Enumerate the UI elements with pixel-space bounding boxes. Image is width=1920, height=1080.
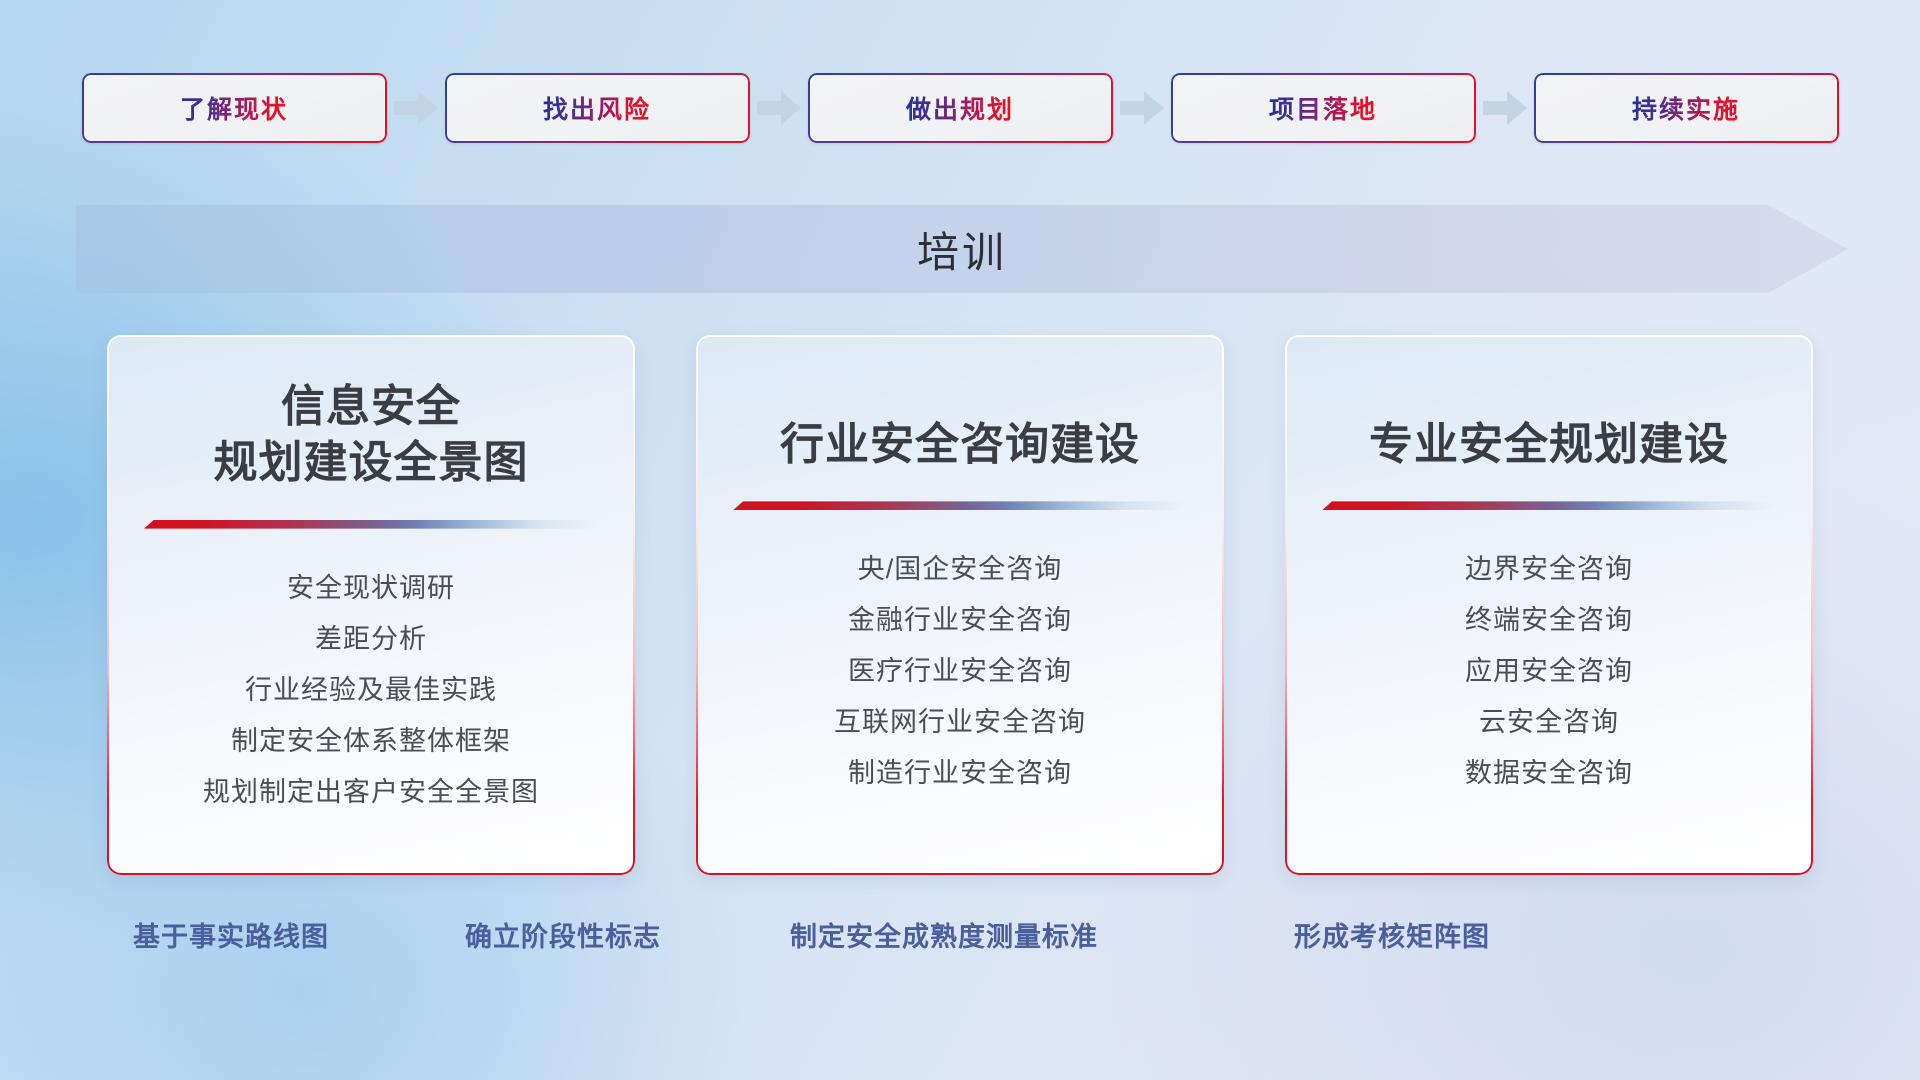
card-divider	[144, 520, 598, 529]
card-list: 安全现状调研 差距分析 行业经验及最佳实践 制定安全体系整体框架 规划制定出客户…	[203, 563, 539, 817]
list-item: 安全现状调研	[287, 563, 455, 613]
arrow-right-icon	[750, 70, 808, 146]
step-box-3[interactable]: 项目落地	[1171, 73, 1476, 143]
captions-row: 基于事实路线图 确立阶段性标志 制定安全成熟度测量标准 形成考核矩阵图	[0, 915, 1920, 965]
card-professional-security-planning[interactable]: 专业安全规划建设 边界安全咨询 终端安全咨询 应用安全咨询 云安全咨询 数据安全…	[1285, 335, 1813, 875]
step-box-0[interactable]: 了解现状	[82, 73, 387, 143]
card-title: 信息安全 规划建设全景图	[214, 379, 529, 492]
card-title-line: 专业安全规划建设	[1369, 417, 1729, 473]
list-item: 行业经验及最佳实践	[245, 665, 497, 715]
list-item: 互联网行业安全咨询	[834, 697, 1086, 747]
step-label: 做出规划	[906, 90, 1014, 126]
card-list: 边界安全咨询 终端安全咨询 应用安全咨询 云安全咨询 数据安全咨询	[1465, 544, 1633, 798]
list-item: 央/国企安全咨询	[858, 544, 1063, 594]
arrow-right-icon	[387, 70, 445, 146]
card-title: 行业安全咨询建设	[780, 417, 1140, 473]
list-item: 医疗行业安全咨询	[848, 646, 1072, 696]
caption-milestones: 确立阶段性标志	[465, 915, 661, 954]
caption-assessment-matrix: 形成考核矩阵图	[1294, 915, 1490, 954]
card-title-line: 行业安全咨询建设	[780, 417, 1140, 473]
list-item: 边界安全咨询	[1465, 544, 1633, 594]
list-item: 应用安全咨询	[1465, 646, 1633, 696]
list-item: 金融行业安全咨询	[848, 595, 1072, 645]
card-industry-security-consulting[interactable]: 行业安全咨询建设 央/国企安全咨询 金融行业安全咨询 医疗行业安全咨询 互联网行…	[696, 335, 1224, 875]
arrow-right-icon	[1113, 70, 1171, 146]
card-title-line: 规划建设全景图	[214, 435, 529, 491]
cards-row: 信息安全 规划建设全景图 安全现状调研 差距分析 行业经验及最佳实践 制定安全体…	[0, 335, 1920, 875]
step-label: 找出风险	[543, 90, 651, 126]
step-box-4[interactable]: 持续实施	[1534, 73, 1839, 143]
caption-roadmap: 基于事实路线图	[133, 915, 329, 954]
list-item: 数据安全咨询	[1465, 748, 1633, 798]
card-information-security[interactable]: 信息安全 规划建设全景图 安全现状调研 差距分析 行业经验及最佳实践 制定安全体…	[107, 335, 635, 875]
list-item: 差距分析	[315, 614, 427, 664]
card-title-line: 信息安全	[214, 379, 529, 435]
training-banner: 培训	[76, 205, 1848, 293]
step-box-1[interactable]: 找出风险	[445, 73, 750, 143]
caption-maturity-standard: 制定安全成熟度测量标准	[790, 915, 1098, 954]
arrow-right-icon	[1476, 70, 1534, 146]
step-label: 持续实施	[1632, 90, 1740, 126]
step-box-2[interactable]: 做出规划	[808, 73, 1113, 143]
process-steps-row: 了解现状 找出风险 做出规划 项目落地 持续实施	[0, 70, 1920, 146]
card-title: 专业安全规划建设	[1369, 417, 1729, 473]
list-item: 终端安全咨询	[1465, 595, 1633, 645]
card-divider	[1322, 501, 1776, 510]
list-item: 云安全咨询	[1479, 697, 1619, 747]
banner-title: 培训	[76, 205, 1848, 293]
list-item: 制造行业安全咨询	[848, 748, 1072, 798]
list-item: 制定安全体系整体框架	[231, 716, 511, 766]
step-label: 项目落地	[1269, 90, 1377, 126]
step-label: 了解现状	[180, 90, 288, 126]
card-divider	[733, 501, 1187, 510]
list-item: 规划制定出客户安全全景图	[203, 767, 539, 817]
card-list: 央/国企安全咨询 金融行业安全咨询 医疗行业安全咨询 互联网行业安全咨询 制造行…	[834, 544, 1086, 798]
